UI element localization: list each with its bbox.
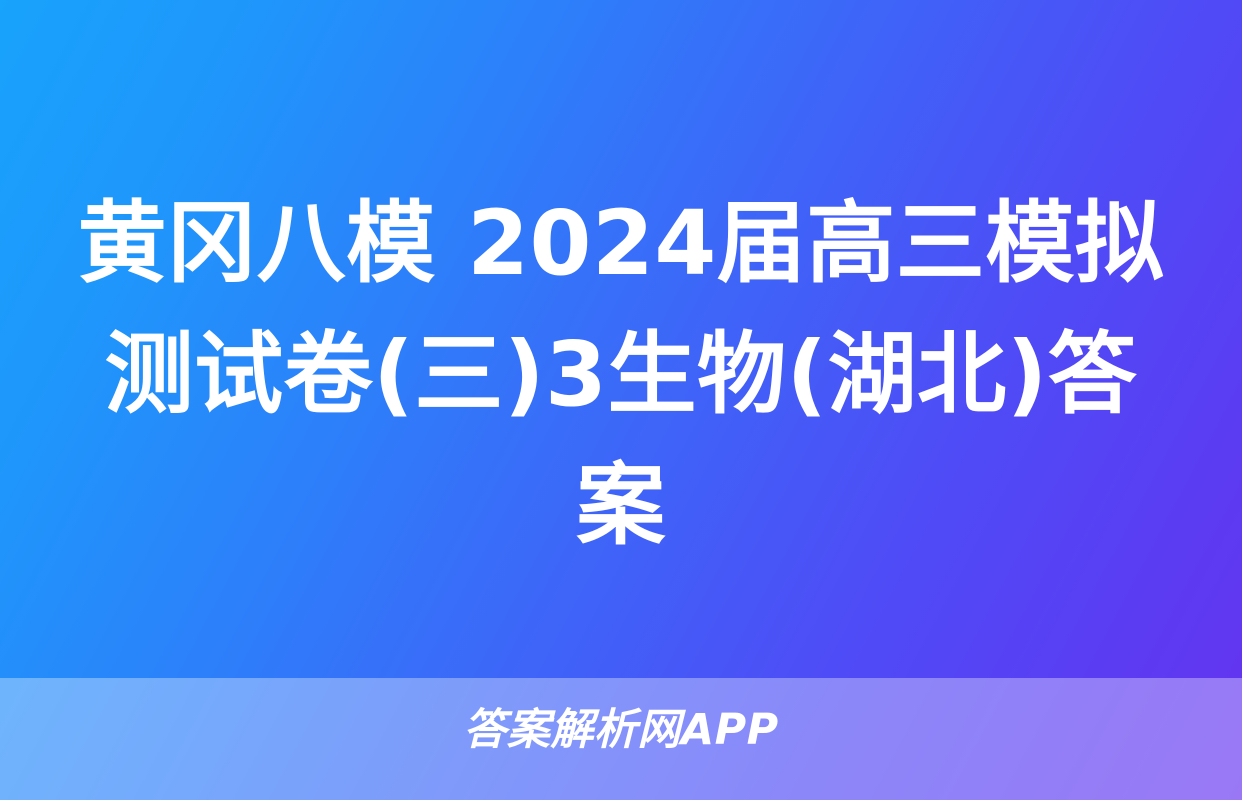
title-card: 黄冈八模 2024届高三模拟测试卷(三)3生物(湖北)答案 答案解析网APP — [0, 0, 1242, 800]
watermark-label: 答案解析网APP — [463, 704, 778, 756]
watermark: 答案解析网APP — [0, 704, 1242, 756]
page-title: 黄冈八模 2024届高三模拟测试卷(三)3生物(湖北)答案 — [75, 178, 1167, 570]
page-title-block: 黄冈八模 2024届高三模拟测试卷(三)3生物(湖北)答案 — [75, 178, 1167, 570]
